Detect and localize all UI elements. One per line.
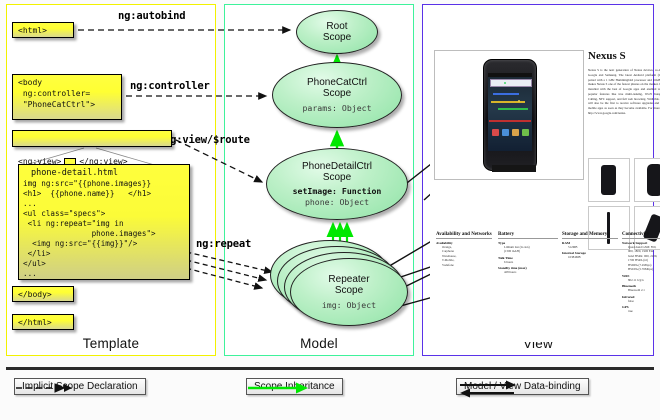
wallpaper-dot-1 xyxy=(504,82,506,84)
phone-search-widget xyxy=(490,79,532,87)
phone-title: Nexus S xyxy=(588,50,626,62)
code-tag-html: <html> xyxy=(12,22,74,38)
code-tag-html-close: </html> xyxy=(12,314,74,330)
phone-dock-bar xyxy=(492,165,536,172)
specs-value: false xyxy=(622,299,660,303)
phone-description: Nexus S is the next generation of Nexus … xyxy=(588,68,660,116)
thumbnail-0-image xyxy=(601,165,616,195)
specs-column-header: Storage and Memory xyxy=(562,232,618,239)
scope-rep-name: Repeater xyxy=(328,274,369,285)
specs-value: 6 hours xyxy=(498,260,558,264)
specs-value: 16384MB xyxy=(562,255,618,259)
specs-value: Vodafone xyxy=(436,263,492,267)
label-ng-autobind: ng:autobind xyxy=(118,10,185,22)
specs-value: 512MB xyxy=(562,245,618,249)
specs-value: 428 hours xyxy=(498,270,558,274)
scope-detail-prop-phone: phone: Object xyxy=(305,197,369,207)
diagram-canvas: Template Model View xyxy=(0,0,660,420)
legend-divider xyxy=(6,367,654,370)
phone-hero-image-frame xyxy=(434,50,584,180)
specs-column-3: ConnectivityNetwork SupportQuad-band GSM… xyxy=(622,232,660,314)
phone-statusbar xyxy=(488,73,532,77)
scope-root-name2: Scope xyxy=(323,32,351,43)
scope-cat-name: PhoneCatCtrl xyxy=(307,77,367,88)
scope-repeater: Repeater Scope img: Object xyxy=(290,258,408,326)
app-icon-4 xyxy=(522,129,529,136)
scope-root-name: Root xyxy=(326,21,347,32)
partial-filename: phone-detail.html xyxy=(19,165,189,179)
thumbnail-0[interactable] xyxy=(588,158,630,202)
rendered-view-page: Nexus S Nexus S is the next generation o… xyxy=(430,10,648,342)
app-icon-2 xyxy=(502,129,509,136)
specs-column-0: Availability and NetworksAvailabilityOra… xyxy=(436,232,492,267)
scope-phonecatctrl: PhoneCatCtrl Scope params: Object xyxy=(272,62,402,128)
specs-value: 802.11 b/g/n xyxy=(622,278,660,282)
column-label-model: Model xyxy=(225,336,413,351)
scope-rep-name2: Scope xyxy=(335,285,363,296)
wallpaper-line-3 xyxy=(498,108,528,110)
legend-label-inheritance: Scope Inheritance xyxy=(246,378,343,395)
legend-label-databinding: Model / View Data-binding xyxy=(456,378,589,395)
scope-detail-name2: Scope xyxy=(323,172,351,183)
legend-label-implicit: Implicit Scope Declaration xyxy=(14,378,146,395)
legend-item-databinding: Model / View Data-binding xyxy=(456,378,589,395)
label-ng-repeat: ng:repeat xyxy=(196,238,251,250)
scope-root: Root Scope xyxy=(296,10,378,54)
wallpaper-line-1 xyxy=(493,93,519,95)
scope-detail-prop-setimage: setImage: Function xyxy=(293,186,382,196)
scope-phonedetailctrl: PhoneDetailCtrl Scope setImage: Function… xyxy=(266,148,408,220)
specs-column-header: Battery xyxy=(498,232,558,239)
thumbnail-1-image xyxy=(647,164,660,196)
code-tag-body: <body ng:controller= "PhoneCatCtrl"> xyxy=(12,74,122,120)
label-ng-view-route: ng:view/$route xyxy=(164,134,250,146)
app-icon-1 xyxy=(492,129,499,136)
label-ng-controller: ng:controller xyxy=(130,80,210,92)
specs-column-2: Storage and MemoryRAM512MBInternal Stora… xyxy=(562,232,618,260)
specs-column-header: Connectivity xyxy=(622,232,660,239)
specs-value: HSUPA (5.76Mbps) xyxy=(622,267,660,271)
scope-cat-name2: Scope xyxy=(323,88,351,99)
app-icon-3 xyxy=(512,129,519,136)
specs-value: true xyxy=(622,309,660,313)
specs-column-header: Availability and Networks xyxy=(436,232,492,239)
thumbnail-1[interactable] xyxy=(634,158,660,202)
legend-item-implicit: Implicit Scope Declaration xyxy=(14,378,146,395)
code-tag-ngview: <ng:view> </ng:view> xyxy=(12,130,172,147)
legend-item-inheritance: Scope Inheritance xyxy=(246,378,343,395)
scope-rep-prop-img: img: Object xyxy=(322,300,376,310)
partial-code-panel: phone-detail.html img ng:src="{{phone.im… xyxy=(18,164,190,280)
partial-source: img ng:src="{{phone.images}} <h1> {{phon… xyxy=(19,179,189,279)
specs-column-1: BatteryTypeLithium Ion (Li-Ion)(1500 mAH… xyxy=(498,232,558,275)
specs-value: (1500 mAH) xyxy=(498,249,558,253)
specs-value: Bluetooth 2.1 xyxy=(622,288,660,292)
scope-detail-name: PhoneDetailCtrl xyxy=(302,161,372,172)
wallpaper-line-4 xyxy=(489,120,531,122)
column-label-template: Template xyxy=(7,336,215,351)
phone-app-row-1 xyxy=(490,129,530,138)
phone-device-illustration xyxy=(483,59,537,171)
specs-table: Availability and NetworksAvailabilityOra… xyxy=(436,232,660,332)
scope-cat-prop-params: params: Object xyxy=(302,103,371,113)
phone-screen xyxy=(488,73,532,151)
legend: Implicit Scope Declaration Scope Inherit… xyxy=(6,378,654,404)
code-tag-body-close: </body> xyxy=(12,286,74,302)
wallpaper-dot-2 xyxy=(518,100,520,102)
